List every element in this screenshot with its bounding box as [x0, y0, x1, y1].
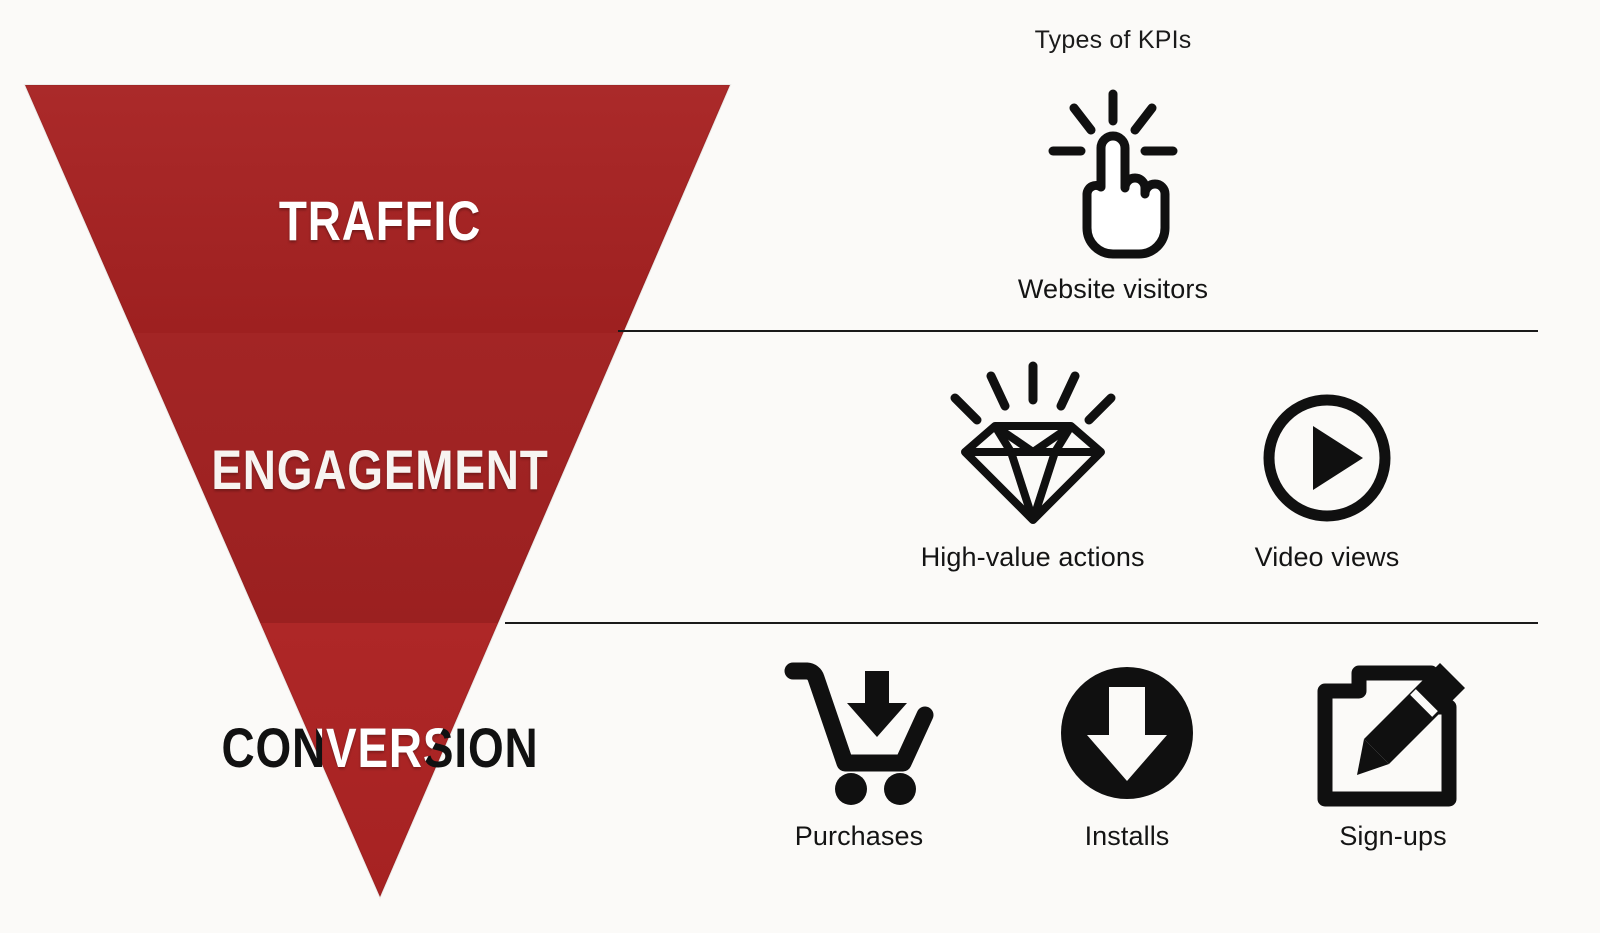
kpi-label-high-value-actions: High-value actions — [921, 542, 1145, 573]
kpi-item-website-visitors[interactable]: Website visitors — [1018, 88, 1208, 305]
kpi-row-divider-2 — [505, 622, 1538, 624]
kpi-label-installs: Installs — [1085, 821, 1170, 852]
kpi-item-installs[interactable]: Installs — [1057, 659, 1197, 852]
kpi-row-divider-1 — [618, 330, 1538, 332]
click-hand-icon — [1045, 88, 1181, 260]
kpi-item-high-value-actions[interactable]: High-value actions — [921, 360, 1145, 573]
kpi-item-purchases[interactable]: Purchases — [779, 655, 939, 852]
kpi-row-conversion: Purchases Installs — [730, 655, 1520, 852]
kpi-row-engagement: High-value actions Video views — [800, 360, 1520, 573]
kpi-item-sign-ups[interactable]: Sign-ups — [1315, 655, 1471, 852]
kpi-item-video-views[interactable]: Video views — [1255, 388, 1400, 573]
kpi-label-video-views: Video views — [1255, 542, 1400, 573]
play-circle-icon — [1259, 388, 1395, 528]
kpi-label-website-visitors: Website visitors — [1018, 274, 1208, 305]
kpi-label-sign-ups: Sign-ups — [1339, 821, 1446, 852]
kpi-panel: Types of KPIs — [470, 0, 1600, 933]
shopping-cart-download-icon — [779, 655, 939, 807]
download-circle-icon — [1057, 659, 1197, 807]
form-pencil-icon — [1315, 655, 1471, 807]
kpi-funnel-slide: TRAFFIC ENGAGEMENT CONVERSION CONVERSION… — [0, 0, 1600, 933]
kpi-label-purchases: Purchases — [795, 821, 923, 852]
diamond-icon — [943, 360, 1123, 528]
kpi-panel-title: Types of KPIs — [548, 26, 1600, 55]
kpi-row-traffic: Website visitors — [548, 88, 1600, 305]
